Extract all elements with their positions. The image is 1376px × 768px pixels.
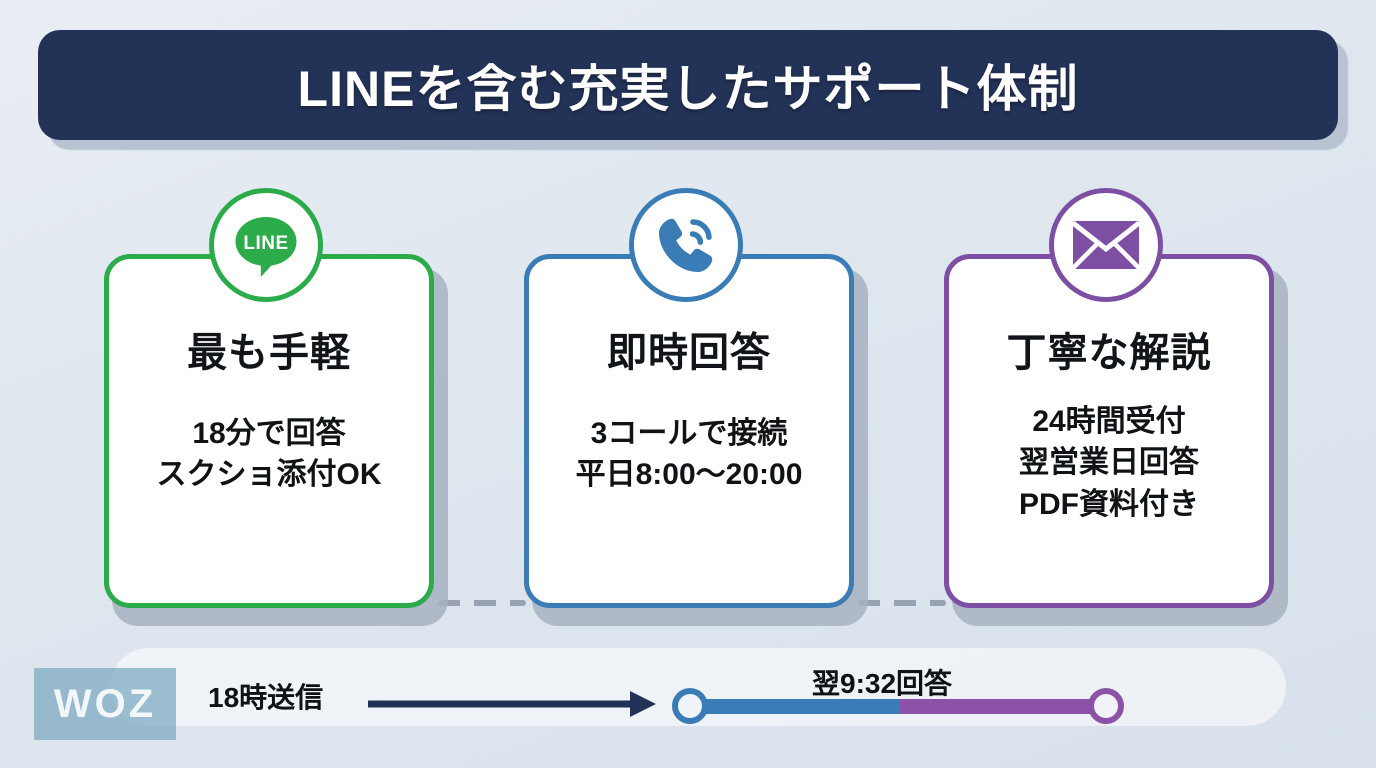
card-heading: 丁寧な解説	[1007, 333, 1212, 373]
phone-ringing-icon	[629, 188, 743, 302]
card-connector-2	[858, 600, 946, 606]
envelope-icon	[1049, 188, 1163, 302]
card-detail-lines: 18分で回答 スクショ添付OK	[157, 413, 382, 496]
right-arrow-icon	[368, 686, 660, 722]
card-detail-line: 3コールで接続	[576, 413, 803, 454]
card-detail-line: 24時間受付	[1019, 401, 1199, 442]
card-heading: 即時回答	[607, 333, 771, 373]
card-line[interactable]: 最も手軽 18分で回答 スクショ添付OK LINE	[96, 188, 436, 618]
card-body: 最も手軽 18分で回答 スクショ添付OK	[104, 254, 434, 608]
send-time-label: 18時送信	[208, 676, 323, 716]
support-channel-cards: 最も手軽 18分で回答 スクショ添付OK LINE 即時回答 3コールで接続 平…	[0, 188, 1376, 628]
card-body: 丁寧な解説 24時間受付 翌営業日回答 PDF資料付き	[944, 254, 1274, 608]
woz-watermark-text: WOZ	[54, 682, 156, 727]
card-detail-line: PDF資料付き	[1019, 484, 1199, 525]
card-detail-line: スクショ添付OK	[157, 454, 382, 495]
card-heading: 最も手軽	[187, 333, 351, 373]
timeline-progress[interactable]	[668, 686, 1128, 726]
card-detail-line: 18分で回答	[157, 413, 382, 454]
title-banner: LINEを含む充実したサポート体制	[38, 30, 1338, 140]
card-detail-lines: 24時間受付 翌営業日回答 PDF資料付き	[1019, 401, 1199, 525]
woz-watermark-logo: WOZ	[34, 668, 176, 740]
card-detail-line: 平日8:00〜20:00	[576, 454, 803, 495]
card-phone[interactable]: 即時回答 3コールで接続 平日8:00〜20:00	[516, 188, 856, 618]
card-detail-lines: 3コールで接続 平日8:00〜20:00	[576, 413, 803, 496]
svg-text:LINE: LINE	[243, 233, 288, 254]
card-connector-1	[438, 600, 526, 606]
card-body: 即時回答 3コールで接続 平日8:00〜20:00	[524, 254, 854, 608]
line-logo-icon: LINE	[209, 188, 323, 302]
card-mail[interactable]: 丁寧な解説 24時間受付 翌営業日回答 PDF資料付き	[936, 188, 1276, 618]
page-title: LINEを含む充実したサポート体制	[298, 49, 1079, 121]
card-detail-line: 翌営業日回答	[1019, 442, 1199, 483]
